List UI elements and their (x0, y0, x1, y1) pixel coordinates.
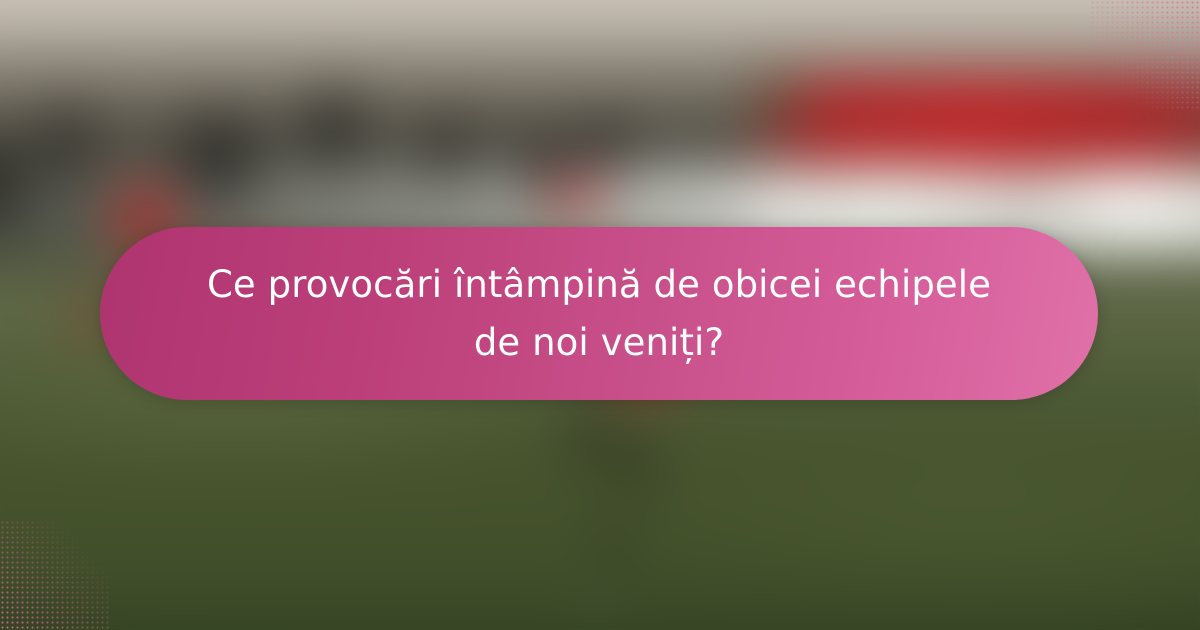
social-share-card: Ce provocări întâmpină de obicei echipel… (0, 0, 1200, 630)
headline-text: Ce provocări întâmpină de obicei echipel… (199, 256, 999, 371)
headline-pill: Ce provocări întâmpină de obicei echipel… (100, 227, 1098, 400)
